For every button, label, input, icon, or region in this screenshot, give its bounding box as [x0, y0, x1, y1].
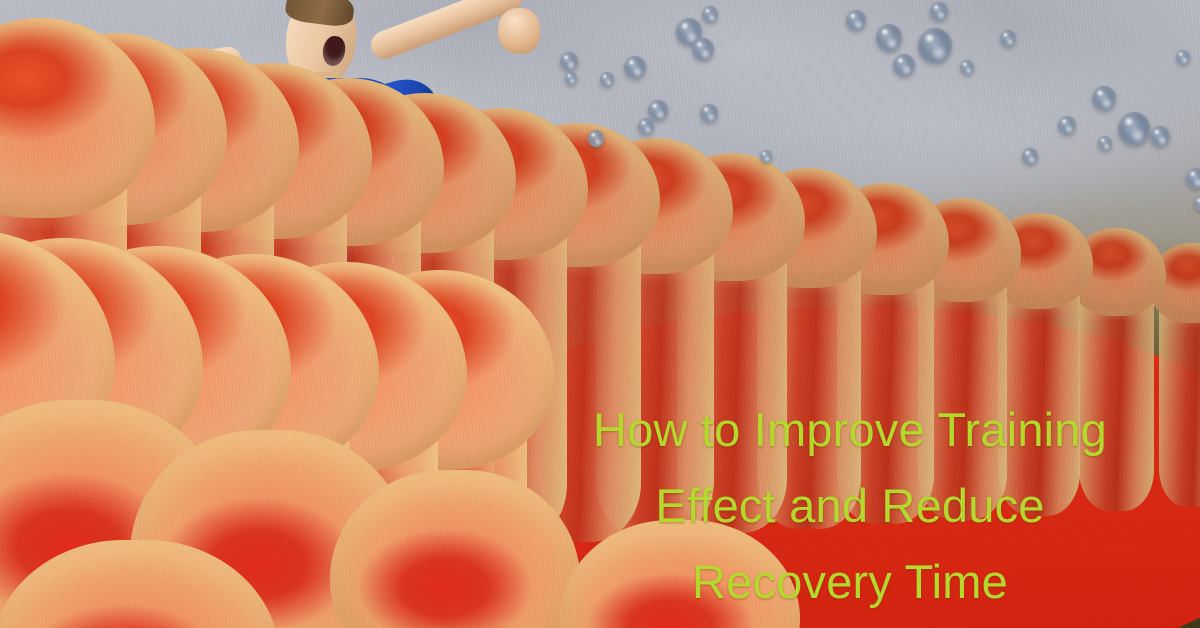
- bubble-icon: [918, 28, 952, 64]
- bubble-icon: [1092, 86, 1116, 111]
- bubble-icon: [1000, 30, 1016, 47]
- bubble-icon: [1176, 50, 1190, 65]
- bubble-icon: [960, 60, 974, 75]
- title-line-1: How to Improve Training: [470, 392, 1200, 468]
- bubble-icon: [893, 54, 915, 77]
- bubble-icon: [876, 24, 902, 52]
- bubble-icon: [648, 100, 668, 121]
- bubble-icon: [846, 10, 866, 31]
- bubble-icon: [1194, 196, 1200, 211]
- bubble-icon: [1022, 148, 1038, 165]
- title-line-3: Recovery Time: [470, 544, 1200, 620]
- title-line-2: Effect and Reduce: [470, 468, 1200, 544]
- bubble-icon: [560, 52, 578, 71]
- bubble-icon: [638, 118, 654, 135]
- bubble-icon: [1058, 116, 1076, 135]
- bubble-icon: [1118, 112, 1150, 146]
- bubble-icon: [600, 72, 614, 87]
- bubble-icon: [702, 6, 718, 23]
- bubble-icon: [760, 150, 772, 163]
- bubble-icon: [700, 104, 718, 123]
- title-block: How to Improve Training Effect and Reduc…: [470, 392, 1200, 620]
- banner-canvas: How to Improve Training Effect and Reduc…: [0, 0, 1200, 628]
- bubble-icon: [588, 130, 604, 147]
- bubble-icon: [1098, 136, 1112, 151]
- bubble-icon: [930, 2, 948, 21]
- bubble-icon: [1150, 126, 1170, 147]
- bubble-icon: [624, 56, 646, 79]
- bubble-icon: [1186, 168, 1200, 189]
- bubble-icon: [565, 72, 577, 85]
- bubble-icon: [692, 38, 714, 61]
